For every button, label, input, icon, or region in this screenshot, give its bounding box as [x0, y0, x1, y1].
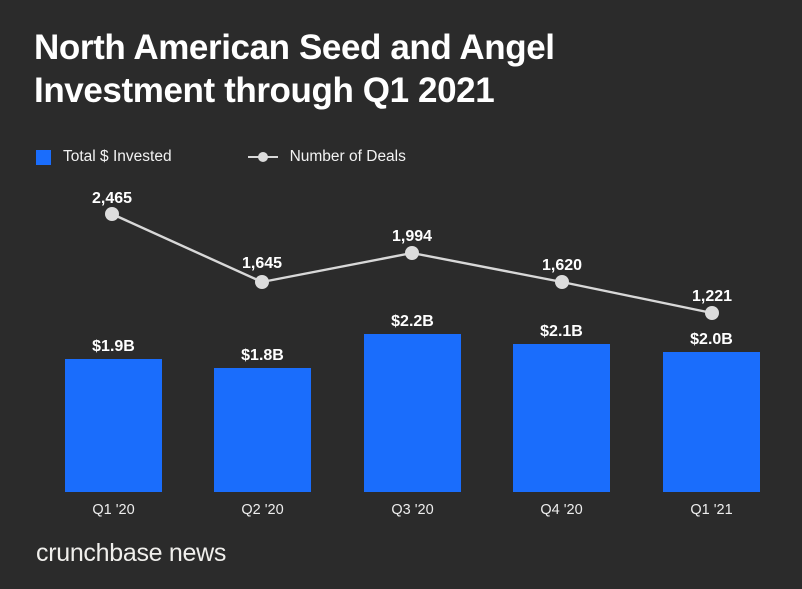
bar-value-label-3: $2.2B	[364, 313, 461, 331]
category-label-2: Q2 '20	[214, 502, 311, 518]
bar-2	[214, 368, 311, 492]
deals-point-marker-5	[705, 306, 719, 320]
bar-4	[513, 344, 610, 492]
deals-point-marker-2	[255, 275, 269, 289]
deals-value-label-2: 1,645	[202, 255, 322, 273]
category-label-1: Q1 '20	[65, 502, 162, 518]
bar-value-label-1: $1.9B	[65, 338, 162, 356]
bar-3	[364, 334, 461, 492]
chart-container: North American Seed and Angel Investment…	[0, 0, 802, 589]
footer: crunchbase news	[36, 539, 226, 568]
deals-value-label-4: 1,620	[502, 257, 622, 275]
brand-logo-text: crunchbase news	[36, 539, 226, 568]
bar-1	[65, 359, 162, 492]
bar-value-label-5: $2.0B	[663, 331, 760, 349]
deals-point-marker-3	[405, 246, 419, 260]
category-label-3: Q3 '20	[364, 502, 461, 518]
category-label-5: Q1 '21	[663, 502, 760, 518]
deals-value-label-5: 1,221	[652, 288, 772, 306]
bar-5	[663, 352, 760, 492]
deals-point-marker-1	[105, 207, 119, 221]
plot-area: $1.9BQ1 '20$1.8BQ2 '20$2.2BQ3 '20$2.1BQ4…	[0, 0, 802, 589]
deals-value-label-1: 2,465	[52, 190, 172, 208]
deals-value-label-3: 1,994	[352, 228, 472, 246]
deals-point-marker-4	[555, 275, 569, 289]
bar-value-label-2: $1.8B	[214, 347, 311, 365]
category-label-4: Q4 '20	[513, 502, 610, 518]
bar-value-label-4: $2.1B	[513, 323, 610, 341]
